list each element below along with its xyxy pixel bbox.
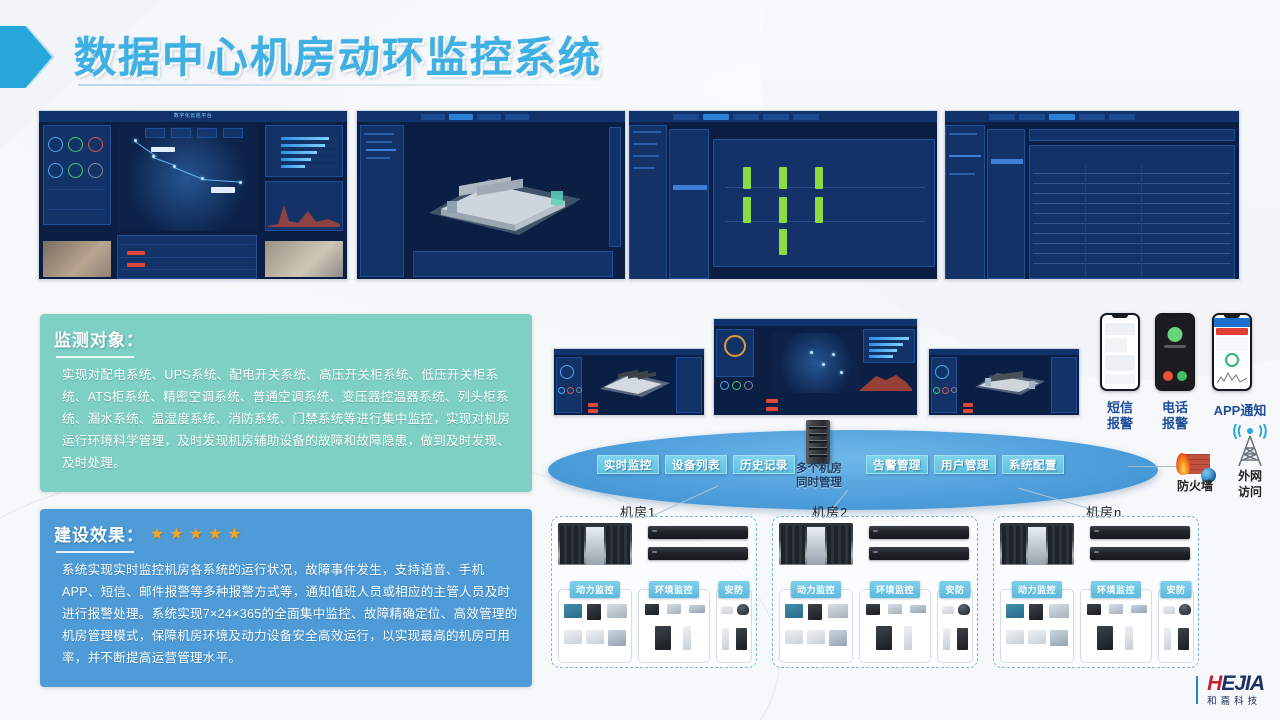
thumb1-kpi-1 xyxy=(145,128,165,138)
thumb1-ring-5 xyxy=(68,163,83,178)
room1-device-normal-ac xyxy=(683,626,691,650)
thumb4-row-6 xyxy=(1033,223,1231,224)
room1-device-precision-ac xyxy=(655,626,671,650)
construction-effect-heading: 建设效果： ★★★★★ xyxy=(54,521,518,546)
server-rack-icon xyxy=(806,420,830,464)
thumb4-row-4 xyxy=(1033,203,1231,204)
thumb1-area-chart xyxy=(268,197,340,227)
mid2-node-1 xyxy=(810,351,813,354)
thumb1-node-3 xyxy=(173,165,176,168)
room1-category-environment: 环境监控 xyxy=(638,589,710,663)
mid2-node-4 xyxy=(840,371,843,374)
roomn-device-ups xyxy=(1029,604,1043,620)
alert-label-call: 电话 报警 xyxy=(1147,400,1203,432)
room2-device-access-control xyxy=(957,628,968,650)
room2-device-hv-cabinet xyxy=(829,630,847,646)
room2-device-lv-cabinet xyxy=(807,630,825,644)
room1-category-power: 动力监控 xyxy=(558,589,632,663)
thumbnail-station[interactable]: 全站信息 xyxy=(356,110,626,280)
thumb4-col-1 xyxy=(1085,165,1086,277)
logo-wordmark: HEJIA xyxy=(1207,674,1264,693)
room1-device-mains xyxy=(564,630,582,644)
logo-chinese-name: 和嘉科技 xyxy=(1207,693,1264,707)
thumbnail-overview[interactable]: 数字化云巡平台 xyxy=(38,110,348,280)
room2-rack-left xyxy=(781,526,805,564)
room1-category-power-label: 动力监控 xyxy=(570,581,620,598)
thumb4-row-2 xyxy=(1033,183,1231,184)
room1-category-security-label: 安防 xyxy=(718,581,749,598)
thumb1-ring-6 xyxy=(88,163,103,178)
roomn-device-mains xyxy=(1006,630,1024,644)
roomn-device-generator xyxy=(1006,604,1024,618)
alert-label-call-line1: 电话 xyxy=(1147,400,1203,416)
mid1-gauge xyxy=(560,365,574,379)
room2-device-battery xyxy=(828,604,848,618)
mid1-alarm-1 xyxy=(588,403,598,407)
thumb3-bar-6 xyxy=(815,197,823,223)
thumb3-nav-2[interactable] xyxy=(703,114,729,120)
room1-device-access-control xyxy=(736,628,747,650)
chevron-icon xyxy=(0,26,52,88)
firewall-label: 防火墙 xyxy=(1160,478,1230,494)
thumb4-side-item-2[interactable] xyxy=(949,155,981,157)
logo-wordmark-initial: H xyxy=(1207,672,1221,695)
room2-device-camera xyxy=(942,606,954,614)
thumb1-table-header xyxy=(119,244,255,245)
room2-server-unit-2 xyxy=(869,547,969,560)
mid2-bar-1 xyxy=(869,337,909,340)
room1-category-environment-label: 环境监控 xyxy=(649,581,699,598)
logo-divider xyxy=(1196,676,1198,704)
thumb2-tree-item-4[interactable] xyxy=(366,157,390,159)
thumb3-tree-panel xyxy=(669,129,709,279)
room2-device-normal-ac xyxy=(904,626,912,650)
room1-device-lv-cabinet xyxy=(586,630,604,644)
company-logo: HEJIA 和嘉科技 xyxy=(1196,672,1264,708)
mid2-dot-3 xyxy=(744,381,753,390)
mid2-node-3 xyxy=(832,353,835,356)
roomn-rack-right xyxy=(1048,526,1072,564)
thumb1-node-1 xyxy=(134,139,137,142)
thumb1-divider xyxy=(47,189,105,190)
room1-device-camera xyxy=(721,606,733,614)
room2-device-dome-camera xyxy=(958,604,970,615)
room1-category-security: 安防 xyxy=(716,589,752,663)
thumb1-bar-4 xyxy=(281,158,311,161)
thumb1-alarm-chip-1 xyxy=(127,251,145,255)
thumb1-bar-1 xyxy=(281,137,329,140)
app-phone-icon xyxy=(1212,313,1252,391)
hub-button-device-list[interactable]: 设备列表 xyxy=(665,455,727,474)
roomn-category-security-label: 安防 xyxy=(1160,581,1191,598)
hub-button-user-management[interactable]: 用户管理 xyxy=(934,455,996,474)
thumb2-3d-station xyxy=(419,161,591,239)
mid2-topbar xyxy=(714,319,917,326)
thumb3-nav-1[interactable] xyxy=(673,114,699,120)
mid2-alarm-1 xyxy=(766,399,778,403)
thumb3-nav-4[interactable] xyxy=(763,114,789,120)
room2-server-unit-1 xyxy=(869,526,969,539)
thumb1-bar-3 xyxy=(281,151,317,154)
construction-effect-rule xyxy=(56,551,134,553)
roomn-device-lv-cabinet xyxy=(1028,630,1046,644)
thumb3-side-item-4[interactable] xyxy=(633,167,655,169)
extranet-label-line2: 访问 xyxy=(1222,484,1278,500)
mid3-topbar xyxy=(929,349,1079,355)
mid2-bar-3 xyxy=(869,349,897,352)
mid3-right-panel xyxy=(1051,357,1077,413)
roomn-aisle xyxy=(1028,527,1046,565)
roomn-device-temp-humidity xyxy=(1087,604,1101,615)
mid3-dot-1 xyxy=(933,387,940,394)
thumb4-toolbar xyxy=(1029,129,1235,141)
thumb4-row-5 xyxy=(1033,213,1231,214)
mid3-alarm-2 xyxy=(963,409,973,413)
mid3-dot-2 xyxy=(942,387,949,394)
construction-effect-body: 系统实现实时监控机房各系统的运行状况，故障事件发生，支持语音、手机APP、短信、… xyxy=(54,559,518,669)
thumb3-bar-5 xyxy=(779,197,787,223)
thumb4-row-8 xyxy=(1033,243,1231,244)
mid2-bar-2 xyxy=(869,343,903,346)
mid3-gauge xyxy=(935,365,949,379)
room2-device-temp-humidity xyxy=(866,604,880,615)
alert-label-sms-line2: 报警 xyxy=(1092,416,1148,432)
alert-label-call-line2: 报警 xyxy=(1147,416,1203,432)
roomn-server-unit-1 xyxy=(1090,526,1190,539)
thumb2-nav-4[interactable] xyxy=(505,114,529,120)
call-phone-icon xyxy=(1155,313,1195,391)
thumb1-bar-5 xyxy=(281,165,305,168)
thumb1-node-5 xyxy=(239,181,242,184)
hub-button-realtime-monitor[interactable]: 实时监控 xyxy=(597,455,659,474)
roomn-device-hv-cabinet xyxy=(1050,630,1068,646)
thumb3-side-item-2[interactable] xyxy=(633,143,657,145)
page-header: 数据中心机房动环监控系统 xyxy=(0,18,1280,96)
room2-device-infrared xyxy=(943,628,950,650)
mid2-alarm-2 xyxy=(766,407,778,411)
thumb3-side-item-3[interactable] xyxy=(633,155,659,157)
thumb1-divider-2 xyxy=(47,209,105,210)
thumb1-node-4 xyxy=(201,177,204,180)
room1-device-infrared xyxy=(722,628,729,650)
room1-rack-right xyxy=(606,526,630,564)
room2-aisle xyxy=(807,527,825,565)
hub-center-label-line1: 多个机房 xyxy=(781,462,857,476)
mid-dashboard-right[interactable] xyxy=(928,348,1080,416)
thumb4-side-nav xyxy=(945,125,985,280)
thumb4-row-7 xyxy=(1033,233,1231,234)
thumb4-row-3 xyxy=(1033,193,1231,194)
thumb3-bar-3 xyxy=(815,167,823,189)
thumb3-bar-4 xyxy=(743,197,751,223)
mid3-alarm-1 xyxy=(963,403,973,407)
thumb1-bar-2 xyxy=(281,144,325,147)
room1-device-fresh-air xyxy=(689,605,705,613)
thumb3-grid-2 xyxy=(725,221,925,222)
thumb3-nav-5[interactable] xyxy=(793,114,819,120)
thumb4-side-item-3[interactable] xyxy=(949,173,975,175)
mid-dashboard-left[interactable] xyxy=(553,348,705,416)
thumb1-ring-2 xyxy=(68,137,83,152)
roomn-device-infrared xyxy=(1164,628,1171,650)
room2-device-ups xyxy=(808,604,822,620)
thumb2-nav-3[interactable] xyxy=(477,114,501,120)
mid1-topbar xyxy=(554,349,704,355)
hub-button-alarm-management[interactable]: 告警管理 xyxy=(866,455,928,474)
room2-device-generator xyxy=(785,604,803,618)
roomn-category-environment: 环境监控 xyxy=(1080,589,1152,663)
room1-server-unit-1 xyxy=(648,526,748,539)
room1-photo xyxy=(558,523,632,565)
thumb4-tree-panel xyxy=(987,129,1025,279)
logo-wordmark-rest: EJIA xyxy=(1221,672,1264,695)
roomn-category-power: 动力监控 xyxy=(1000,589,1074,663)
extranet-label-line1: 外网 xyxy=(1222,468,1278,484)
construction-effect-box: 建设效果： ★★★★★ 系统实现实时监控机房各系统的运行状况，故障事件发生，支持… xyxy=(40,509,532,687)
roomn-device-camera xyxy=(1163,606,1175,614)
thumb1-map-tag xyxy=(151,147,175,152)
dashboard-thumbnail-row: 数字化云巡平台 xyxy=(38,110,1242,300)
machine-room-n: 动力监控 环境监控 安防 xyxy=(993,516,1199,668)
thumb3-bar-1 xyxy=(743,167,751,189)
thumb4-nav-3[interactable] xyxy=(1049,114,1075,120)
room2-category-environment-label: 环境监控 xyxy=(870,581,920,598)
thumb1-ring-4 xyxy=(48,163,63,178)
thumb2-tree-item-2[interactable] xyxy=(366,141,392,143)
thumb4-row-9 xyxy=(1033,253,1231,254)
room1-device-dome-camera xyxy=(737,604,749,615)
roomn-category-environment-label: 环境监控 xyxy=(1091,581,1141,598)
thumb1-table-row-1 xyxy=(119,257,255,258)
thumb2-right-panel xyxy=(609,127,621,247)
machine-room-2: 动力监控 环境监控 安防 xyxy=(772,516,978,668)
thumb1-table-row-2 xyxy=(119,269,255,270)
roomn-device-access-control xyxy=(1178,628,1189,650)
thumb1-kpi-2 xyxy=(171,128,191,138)
mid-dashboard-center[interactable] xyxy=(713,318,918,416)
thumb1-alarm-chip-2 xyxy=(127,263,145,267)
thumb1-map-tag-2 xyxy=(211,187,235,193)
hub-button-system-config[interactable]: 系统配置 xyxy=(1002,455,1064,474)
thumbnail-analysis-record[interactable]: 分析记录 xyxy=(944,110,1240,280)
room2-device-fresh-air xyxy=(910,605,926,613)
room2-category-environment: 环境监控 xyxy=(859,589,931,663)
room1-device-generator xyxy=(564,604,582,618)
mid1-alarm-2 xyxy=(588,409,598,413)
thumb1-ring-1 xyxy=(48,137,63,152)
mid2-dot-1 xyxy=(720,381,729,390)
thumb4-row-1 xyxy=(1033,173,1231,174)
room2-category-security: 安防 xyxy=(937,589,973,663)
thumbnail-device-monitor[interactable]: 设备监测 xyxy=(628,110,938,280)
thumb2-nav-2[interactable] xyxy=(449,114,473,120)
roomn-category-security: 安防 xyxy=(1158,589,1194,663)
thumb2-left-tree xyxy=(360,125,404,277)
thumb4-row-10 xyxy=(1033,263,1231,264)
thumb3-side-nav xyxy=(629,125,667,280)
mid2-bar-4 xyxy=(869,355,893,358)
monitor-object-box: 监测对象： 实现对配电系统、UPS系统、配电开关系统、高压开关柜系统、低压开关柜… xyxy=(40,314,532,492)
mid3-3d-room xyxy=(967,365,1051,399)
antenna-tower-icon xyxy=(1230,424,1266,462)
thumb2-bottom-panel xyxy=(413,251,613,277)
roomn-device-battery xyxy=(1049,604,1069,618)
mid2-china-map xyxy=(772,333,860,393)
mid1-dot-1 xyxy=(558,387,565,394)
alert-label-sms: 短信 报警 xyxy=(1092,400,1148,432)
mid3-dot-3 xyxy=(951,387,957,393)
mid1-right-panel xyxy=(676,357,702,413)
room1-device-ups xyxy=(587,604,601,620)
room2-category-security-label: 安防 xyxy=(939,581,970,598)
thumb4-nav-1[interactable] xyxy=(989,114,1015,120)
thumb2-nav-1[interactable] xyxy=(421,114,445,120)
mid2-gauge xyxy=(724,335,746,357)
thumb1-video-right xyxy=(265,241,343,277)
room1-device-battery xyxy=(607,604,627,618)
thumb1-node-2 xyxy=(152,155,155,158)
title-underline xyxy=(78,84,608,86)
room2-device-mains xyxy=(785,630,803,644)
sms-phone-icon xyxy=(1100,313,1140,391)
room2-device-precision-ac xyxy=(876,626,892,650)
thumb2-tree-item-3[interactable] xyxy=(366,149,396,151)
room2-device-water-leak xyxy=(888,604,902,614)
thumb3-side-item-1[interactable] xyxy=(633,131,661,133)
room1-server-unit-2 xyxy=(648,547,748,560)
room2-photo xyxy=(779,523,853,565)
thumb3-nav-3[interactable] xyxy=(733,114,759,120)
room2-category-power-label: 动力监控 xyxy=(791,581,841,598)
thumb4-tree-selected[interactable] xyxy=(991,159,1023,164)
room1-aisle xyxy=(586,527,604,565)
alert-label-app: APP通知 xyxy=(1204,400,1276,419)
thumb3-bar-7 xyxy=(779,229,787,255)
mid2-dot-2 xyxy=(732,381,741,390)
call-phone-notch xyxy=(1167,315,1183,318)
thumb4-col-2 xyxy=(1141,165,1142,277)
roomn-device-dome-camera xyxy=(1179,604,1191,615)
roomn-device-water-leak xyxy=(1109,604,1123,614)
roomn-photo xyxy=(1000,523,1074,565)
sms-phone-notch xyxy=(1112,315,1128,318)
roomn-server-unit-2 xyxy=(1090,547,1190,560)
thumb2-tree-item-1[interactable] xyxy=(364,133,394,135)
room1-device-water-leak xyxy=(667,604,681,614)
thumb4-nav-4[interactable] xyxy=(1079,114,1105,120)
page-title: 数据中心机房动环监控系统 xyxy=(74,24,602,85)
thumb1-kpi-3 xyxy=(197,128,217,138)
monitor-object-rule xyxy=(56,356,134,358)
thumb1-title: 数字化云巡平台 xyxy=(174,112,213,119)
room2-category-power: 动力监控 xyxy=(779,589,853,663)
roomn-rack-left xyxy=(1002,526,1026,564)
monitor-object-body: 实现对配电系统、UPS系统、配电开关系统、高压开关柜系统、低压开关柜系统、ATS… xyxy=(54,364,518,474)
mid1-3d-room xyxy=(594,365,674,399)
thumb4-table-panel xyxy=(1029,145,1235,279)
roomn-category-power-label: 动力监控 xyxy=(1012,581,1062,598)
mid1-dot-3 xyxy=(576,387,582,393)
room2-rack-right xyxy=(827,526,851,564)
construction-effect-heading-text: 建设效果： xyxy=(54,521,144,546)
alert-label-sms-line1: 短信 xyxy=(1092,400,1148,416)
thumb4-side-item-1[interactable] xyxy=(949,133,977,135)
star-rating-icon: ★★★★★ xyxy=(150,524,247,544)
roomn-device-normal-ac xyxy=(1125,626,1133,650)
room1-device-temp-humidity xyxy=(645,604,659,615)
mid2-area-chart xyxy=(860,371,912,391)
roomn-device-fresh-air xyxy=(1131,605,1147,613)
thumb3-bar-2 xyxy=(779,167,787,189)
room1-rack-left xyxy=(560,526,584,564)
room1-device-hv-cabinet xyxy=(608,630,626,646)
thumb1-video-left xyxy=(43,241,111,277)
extranet-label: 外网 访问 xyxy=(1222,468,1278,500)
monitor-object-heading: 监测对象： xyxy=(54,326,518,351)
hub-to-firewall-connector xyxy=(1128,466,1176,467)
machine-room-1: 动力监控 环境监控 安防 xyxy=(551,516,757,668)
thumb4-nav-5[interactable] xyxy=(1109,114,1135,120)
thumb1-kpi-4 xyxy=(223,128,243,138)
thumb4-nav-2[interactable] xyxy=(1019,114,1045,120)
thumb3-tree-selected[interactable] xyxy=(673,185,707,190)
thumb1-ring-3 xyxy=(88,137,103,152)
thumb3-grid-1 xyxy=(725,187,925,188)
mid1-dot-2 xyxy=(567,387,574,394)
mid2-node-2 xyxy=(822,363,825,366)
roomn-device-precision-ac xyxy=(1097,626,1113,650)
